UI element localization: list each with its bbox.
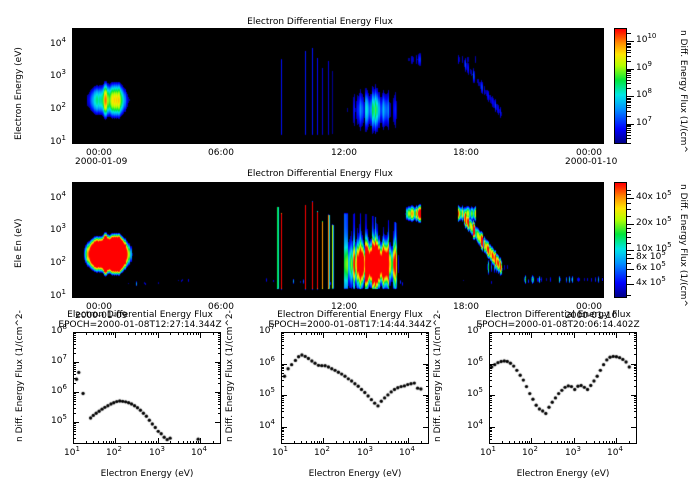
spectrum-3-plot	[489, 332, 637, 444]
top-panel-title: Electron Differential Energy Flux	[0, 17, 640, 27]
spectrum-2-ylabel: n Diff. Energy Flux (1/(cm^2-	[225, 310, 235, 442]
ytick-label: 101	[50, 137, 66, 147]
ytick-label: 104	[50, 193, 66, 203]
top-spectrogram-plot	[72, 28, 604, 144]
colorbar-tick-label: 20x 105	[636, 218, 672, 228]
middle-spectrogram-plot	[72, 182, 604, 298]
xtick-sublabel: 2000-01-10	[565, 311, 617, 321]
top-colorbar-label: n Diff. Energy Flux (1/(cm^	[678, 30, 688, 153]
spectrum-2-subtitle: EPOCH=2000-01-08T17:14:44.344Z	[246, 320, 454, 330]
spectrum-ytick-label: 106	[467, 358, 483, 368]
middle-panel-title: Electron Differential Energy Flux	[0, 169, 640, 179]
spectrum-1-subtitle: EPOCH=2000-01-08T12:27:14.344Z	[36, 320, 244, 330]
colorbar-tick-label: 109	[636, 63, 652, 73]
spectrum-ytick-label: 104	[259, 421, 275, 431]
spectrum-ytick-label: 108	[51, 326, 67, 336]
spectrum-xtick-label: 103	[357, 448, 373, 458]
ytick-label: 103	[50, 71, 66, 81]
spectrum-ytick-label: 107	[51, 356, 67, 366]
colorbar-tick-label: 108	[636, 90, 652, 100]
ytick-label: 104	[50, 39, 66, 49]
spectrum-3-xlabel: Electron Energy (eV)	[489, 469, 637, 479]
colorbar-tick-label: 4x 105	[636, 278, 666, 288]
ytick-label: 103	[50, 225, 66, 235]
spectrum-xtick-label: 104	[607, 448, 623, 458]
spectrum-ytick-label: 105	[259, 389, 275, 399]
colorbar-tick-label: 1010	[636, 35, 656, 45]
spectrum-3-title: Electron Differential Energy Flux	[458, 310, 658, 320]
colorbar-tick-label: 40x 105	[636, 192, 672, 202]
spectrum-xtick-label: 104	[191, 448, 207, 458]
colorbar-tick-label: 6x 105	[636, 263, 666, 273]
ytick-label: 101	[50, 291, 66, 301]
spectrum-xtick-label: 103	[149, 448, 165, 458]
spectrum-xtick-label: 102	[522, 448, 538, 458]
xtick-label: 06:00	[208, 148, 234, 158]
xtick-label: 18:00	[453, 148, 479, 158]
spectrum-1-xlabel: Electron Energy (eV)	[73, 469, 221, 479]
spectrum-3-subtitle: EPOCH=2000-01-08T20:06:14.402Z	[454, 320, 662, 330]
middle-colorbar-label: n Diff. Energy Flux (1/(cm^	[678, 184, 688, 307]
spectrum-2-xlabel: Electron Energy (eV)	[281, 469, 429, 479]
middle-colorbar	[614, 182, 627, 298]
colorbar-tick-label: 107	[636, 118, 652, 128]
spectrum-xtick-label: 102	[314, 448, 330, 458]
xtick-sublabel: 2000-01-09	[75, 157, 127, 167]
spectrum-xtick-label: 103	[565, 448, 581, 458]
top-colorbar	[614, 28, 627, 144]
xtick-label: 12:00	[331, 302, 357, 312]
spectrum-ytick-label: 104	[467, 421, 483, 431]
spectrum-xtick-label: 101	[480, 448, 496, 458]
xtick-label: 12:00	[331, 148, 357, 158]
spectrum-2-plot	[281, 332, 429, 444]
xtick-label: 18:00	[453, 302, 479, 312]
ytick-label: 102	[50, 258, 66, 268]
xtick-label: 06:00	[208, 302, 234, 312]
spectrum-ytick-label: 106	[259, 358, 275, 368]
spectrum-ytick-label: 105	[467, 389, 483, 399]
spectrum-xtick-label: 101	[272, 448, 288, 458]
xtick-sublabel: 2000-01-10	[565, 157, 617, 167]
spectrum-ytick-label: 107	[467, 326, 483, 336]
spectrum-xtick-label: 101	[64, 448, 80, 458]
xtick-sublabel: 2000-01-09	[75, 311, 127, 321]
spectrum-xtick-label: 104	[399, 448, 415, 458]
spectrum-ytick-label: 105	[51, 416, 67, 426]
spectrum-3-ylabel: n Diff. Energy Flux (1/(cm^2-	[433, 310, 443, 442]
top-panel-ylabel: Electron Energy (eV)	[14, 47, 24, 140]
spectrum-xtick-label: 102	[106, 448, 122, 458]
middle-panel-ylabel: Ele En (eV)	[14, 218, 24, 268]
ytick-label: 102	[50, 104, 66, 114]
spectrum-ytick-label: 107	[259, 326, 275, 336]
spectrum-1-ylabel: n Diff. Energy Flux (1/(cm^2-	[15, 310, 25, 442]
spectrum-ytick-label: 106	[51, 386, 67, 396]
spectrum-1-plot	[73, 332, 221, 444]
colorbar-tick-label: 10x 105	[636, 244, 672, 254]
